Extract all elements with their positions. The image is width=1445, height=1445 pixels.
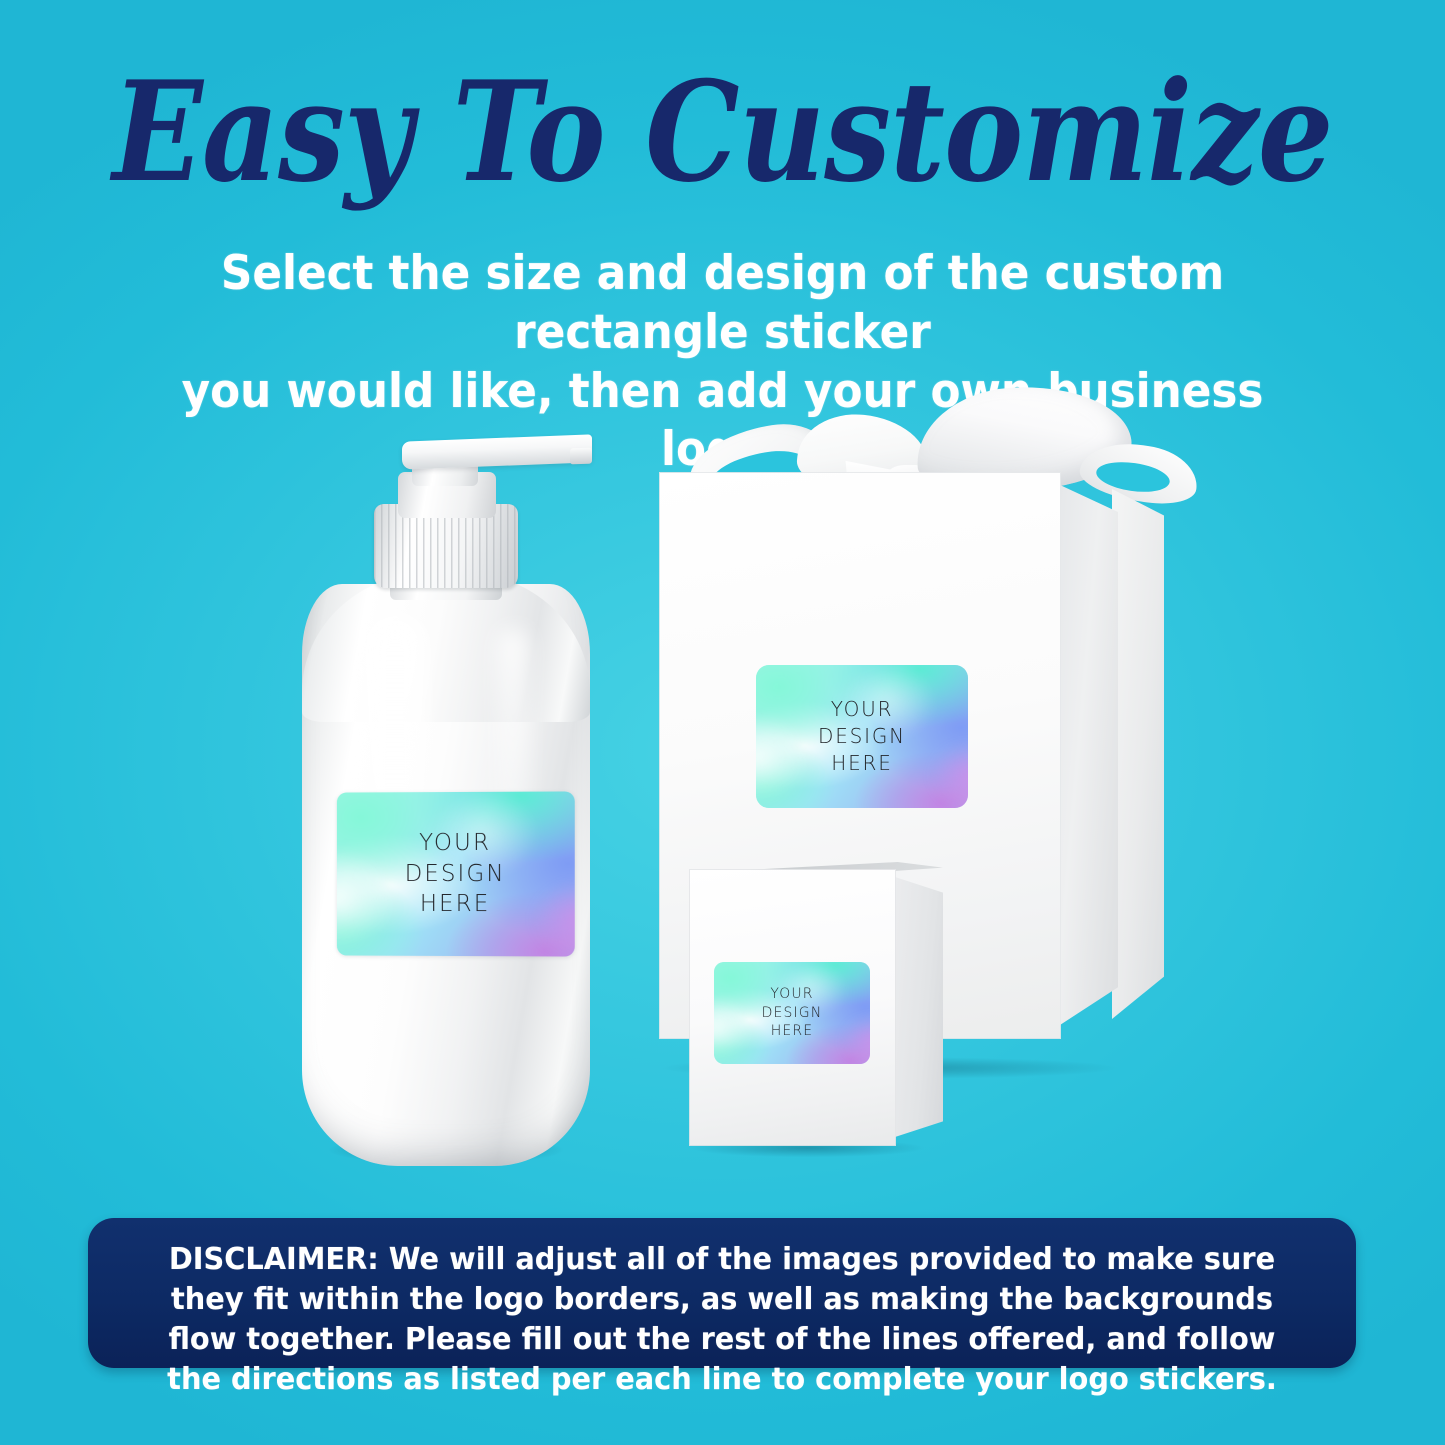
gift-box-side-near xyxy=(1060,485,1118,1025)
page-title: Easy To Customize xyxy=(101,62,1344,203)
sticker-placeholder-text: YOUR DESIGN HERE xyxy=(714,962,870,1064)
sticker-line-2: DESIGN xyxy=(762,1004,823,1023)
small-box-side-panel xyxy=(895,877,943,1137)
page-subtitle-line-1: Select the size and design of the custom… xyxy=(221,246,1224,360)
sticker-line-3: HERE xyxy=(420,889,491,920)
disclaimer-label: DISCLAIMER: xyxy=(169,1242,379,1277)
sticker-placeholder-text: YOUR DESIGN HERE xyxy=(337,791,575,956)
sticker-placeholder-text: YOUR DESIGN HERE xyxy=(756,665,968,808)
sticker-on-gift-box[interactable]: YOUR DESIGN HERE xyxy=(756,665,968,808)
bottle-pump-nozzle-tip xyxy=(570,448,592,465)
sticker-line-1: YOUR xyxy=(770,985,813,1004)
disclaimer-panel: DISCLAIMER: We will adjust all of the im… xyxy=(88,1218,1356,1368)
sticker-line-2: DESIGN xyxy=(405,859,506,890)
sticker-line-1: YOUR xyxy=(419,828,491,859)
disclaimer-text: DISCLAIMER: We will adjust all of the im… xyxy=(159,1240,1284,1400)
sticker-on-small-box[interactable]: YOUR DESIGN HERE xyxy=(714,962,870,1064)
promo-banner: Easy To Customize Select the size and de… xyxy=(0,0,1445,1445)
bottle-pump-nozzle xyxy=(402,434,592,469)
sticker-line-1: YOUR xyxy=(831,696,894,723)
sticker-line-3: HERE xyxy=(771,1022,813,1041)
sticker-line-2: DESIGN xyxy=(818,723,906,750)
gift-box-side-far xyxy=(1112,489,1164,1019)
sticker-line-3: HERE xyxy=(831,750,892,777)
sticker-on-bottle[interactable]: YOUR DESIGN HERE xyxy=(337,791,575,956)
